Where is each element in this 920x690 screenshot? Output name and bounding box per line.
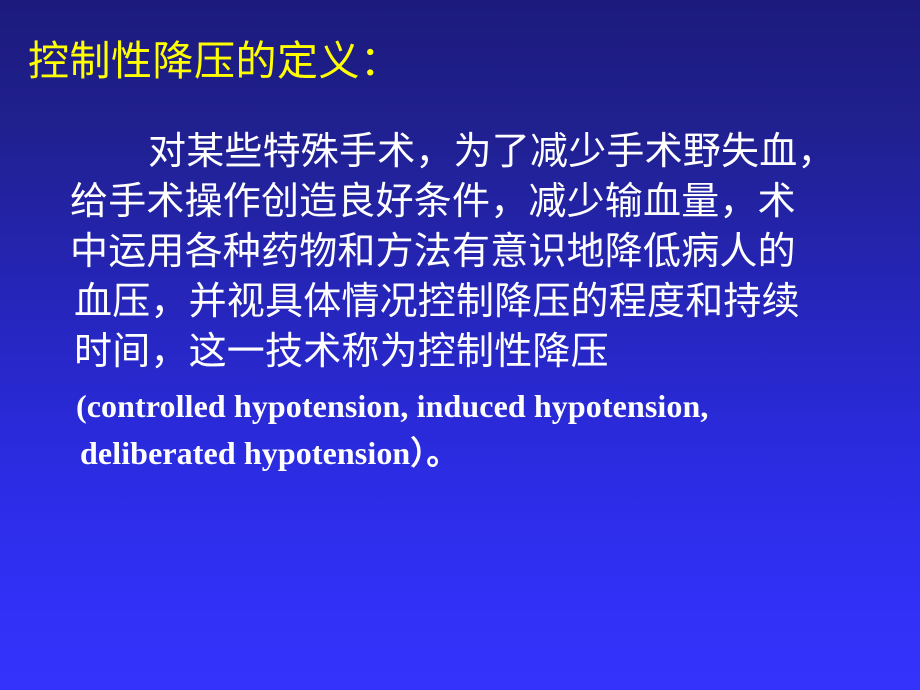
chinese-body-text: 对某些特殊手术，为了减少手术野失血， 给手术操作创造良好条件，减少输血量，术 中… [70,126,896,376]
body-line: 对某些特殊手术，为了减少手术野失血， [70,126,896,176]
page-title: 控制性降压的定义： [28,39,402,85]
english-term-line: deliberated hypotension）。 [76,430,916,477]
body-line: 中运用各种药物和方法有意识地降低病人的 [70,226,896,276]
english-term-line: (controlled hypotension, induced hypoten… [76,383,916,430]
presentation-slide: 控制性降压的定义： 对某些特殊手术，为了减少手术野失血， 给手术操作创造良好条件… [0,0,920,690]
english-body-text: (controlled hypotension, induced hypoten… [76,383,916,477]
body-line: 时间，这一技术称为控制性降压 [70,326,896,376]
body-line: 给手术操作创造良好条件，减少输血量，术 [70,176,896,226]
body-line: 血压，并视具体情况控制降压的程度和持续 [70,276,896,326]
